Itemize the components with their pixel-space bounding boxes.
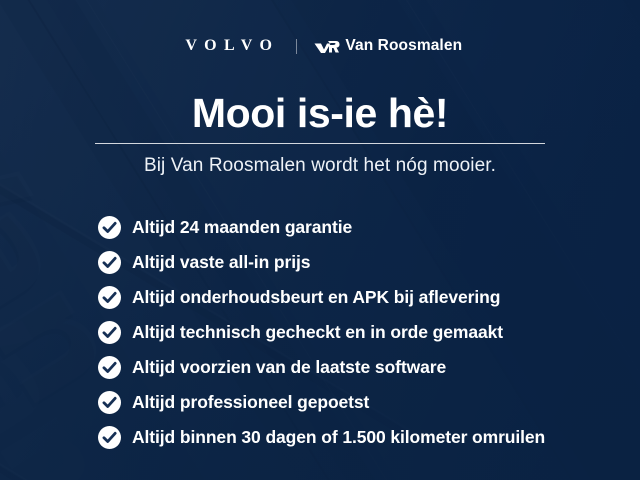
logo-divider [296,39,297,54]
headline-divider [95,143,545,144]
check-circle-icon [98,216,121,239]
usp-label: Altijd vaste all-in prijs [132,254,310,272]
check-circle-icon [98,286,121,309]
check-circle-icon [98,251,121,274]
brand-logo-bar: VOLVO Van Roosmalen [0,38,640,54]
usp-list: Altijd 24 maanden garantie Altijd vaste … [98,210,620,455]
usp-item: Altijd technisch gecheckt en in orde gem… [98,315,620,350]
promo-banner: Van Van VOLVO Van Roosmalen Mooi is-ie h… [0,0,640,480]
headline: Mooi is-ie hè! [0,92,640,135]
usp-label: Altijd voorzien van de laatste software [132,359,446,377]
subtitle: Bij Van Roosmalen wordt het nóg mooier. [0,155,640,178]
check-circle-icon [98,356,121,379]
usp-label: Altijd 24 maanden garantie [132,219,352,237]
usp-label: Altijd technisch gecheckt en in orde gem… [132,324,503,342]
volvo-wordmark: VOLVO [178,38,280,54]
vr-monogram-icon [314,39,340,54]
usp-label: Altijd onderhoudsbeurt en APK bij afleve… [132,289,500,307]
check-circle-icon [98,391,121,414]
usp-item: Altijd professioneel gepoetst [98,385,620,420]
banner-content: VOLVO Van Roosmalen Mooi is-ie hè! Bij V… [0,0,640,480]
usp-item: Altijd vaste all-in prijs [98,245,620,280]
check-circle-icon [98,321,121,344]
usp-label: Altijd professioneel gepoetst [132,394,369,412]
usp-label: Altijd binnen 30 dagen of 1.500 kilomete… [132,429,545,447]
usp-item: Altijd 24 maanden garantie [98,210,620,245]
usp-item: Altijd binnen 30 dagen of 1.500 kilomete… [98,420,620,455]
dealer-name: Van Roosmalen [345,38,462,54]
usp-item: Altijd onderhoudsbeurt en APK bij afleve… [98,280,620,315]
dealer-logo-lockup: Van Roosmalen [314,38,462,54]
check-circle-icon [98,426,121,449]
usp-item: Altijd voorzien van de laatste software [98,350,620,385]
